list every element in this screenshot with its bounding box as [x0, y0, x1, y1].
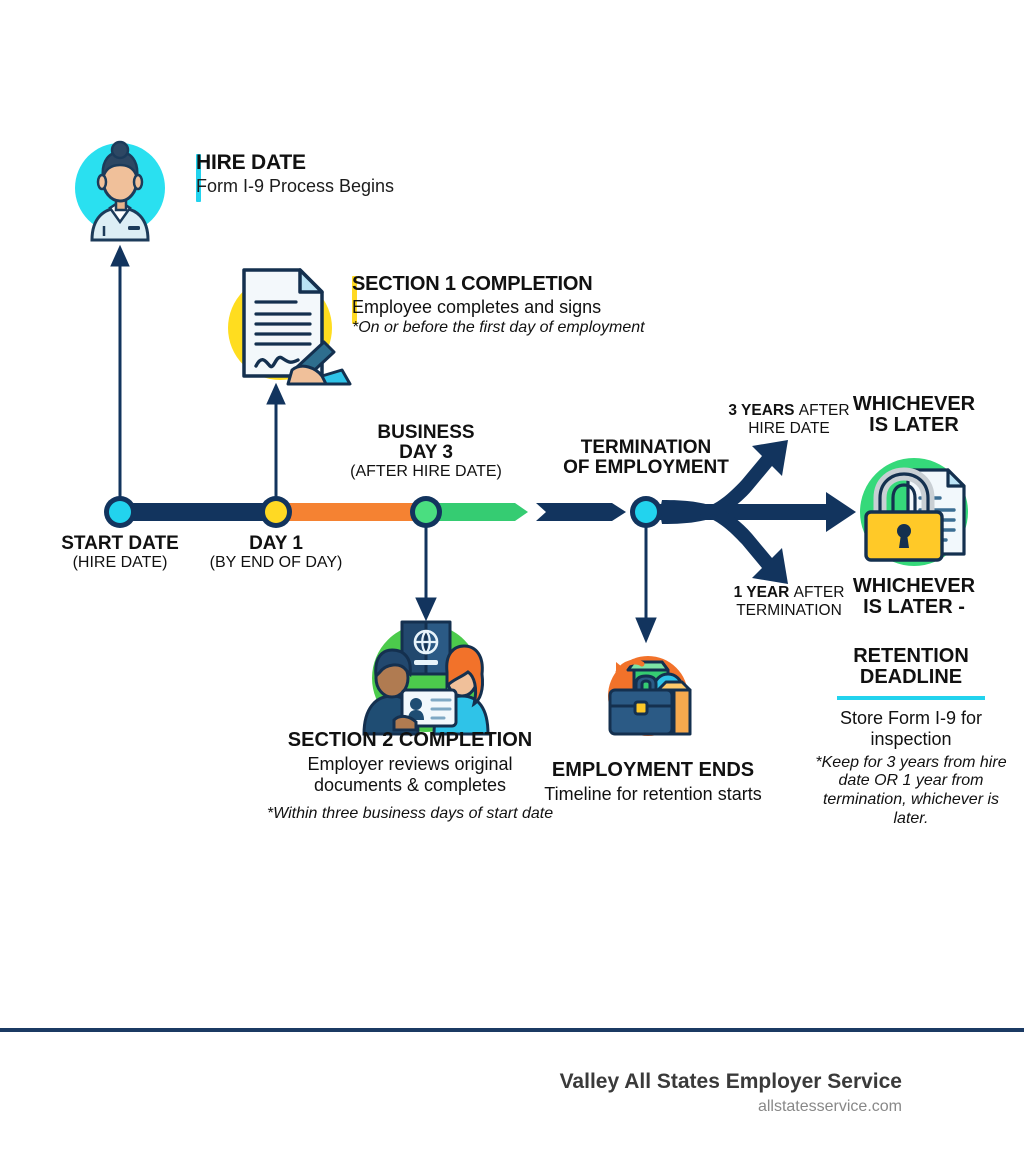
employment-ends-subtitle: Timeline for retention starts — [528, 784, 778, 805]
timeline-segment-navy — [112, 503, 282, 521]
section2-caption-subtitle: Employer reviews original documents & co… — [262, 754, 558, 795]
whichever-bottom-line1: WHICHEVER — [828, 576, 1000, 597]
retention-subtitle: Store Form I-9 for inspection — [812, 708, 1010, 750]
termination-line1: TERMINATION — [536, 438, 756, 458]
three-years-strong: 3 YEARS — [728, 402, 794, 419]
connector-day1-to-section1 — [267, 384, 285, 510]
node-label-start-date: START DATE (HIRE DATE) — [30, 534, 210, 571]
briefcase-boxes-icon — [596, 644, 700, 748]
connector-termination-to-employment-ends — [636, 512, 656, 642]
node-label-day-1: DAY 1 (BY END OF DAY) — [186, 534, 366, 571]
business-day-3-sub: (AFTER HIRE DATE) — [336, 463, 516, 481]
retention-title-line1: RETENTION — [812, 646, 1010, 667]
footer-url[interactable]: allstatesservice.com — [560, 1098, 902, 1116]
start-date-title: START DATE — [30, 534, 210, 554]
one-year-strong: 1 YEAR — [734, 584, 790, 601]
employment-ends-caption: EMPLOYMENT ENDS Timeline for retention s… — [528, 760, 778, 805]
whichever-top-line1: WHICHEVER — [828, 394, 1000, 415]
connector-day3-to-section2 — [416, 512, 436, 620]
employment-ends-title: EMPLOYMENT ENDS — [528, 760, 778, 781]
timeline-node-start — [104, 496, 136, 528]
infographic-canvas: HIRE DATE Form I-9 Process Begins SECTIO… — [0, 0, 1024, 1154]
footer-company-name: Valley All States Employer Service — [560, 1070, 902, 1094]
retention-title-line2: DEADLINE — [812, 667, 1010, 688]
section2-caption-note: *Within three business days of start dat… — [262, 805, 558, 823]
employer-document-review-icon — [336, 616, 516, 734]
start-date-subtitle: (HIRE DATE) — [30, 554, 210, 571]
timeline-node-termination — [630, 496, 662, 528]
lock-document-icon — [852, 456, 976, 568]
timeline-segment-orange — [276, 503, 432, 521]
whichever-is-later-bottom: WHICHEVER IS LATER - — [828, 576, 1000, 618]
footer: Valley All States Employer Service allst… — [0, 1028, 1024, 1154]
whichever-bottom-line2: IS LATER - — [828, 597, 1000, 618]
whichever-is-later-top: WHICHEVER IS LATER — [828, 394, 1000, 436]
section2-caption: SECTION 2 COMPLETION Employer reviews or… — [262, 730, 558, 823]
termination-line2: OF EMPLOYMENT — [536, 458, 756, 478]
day-1-title: DAY 1 — [186, 534, 366, 554]
retention-divider — [837, 696, 985, 700]
business-day-3-line2: DAY 3 — [336, 443, 516, 463]
above-label-termination: TERMINATION OF EMPLOYMENT — [536, 438, 756, 478]
above-label-business-day-3: BUSINESS DAY 3 (AFTER HIRE DATE) — [336, 423, 516, 481]
timeline-node-day1 — [260, 496, 292, 528]
section2-caption-title: SECTION 2 COMPLETION — [262, 730, 558, 751]
whichever-top-line2: IS LATER — [828, 415, 1000, 436]
retention-note: *Keep for 3 years from hire date OR 1 ye… — [812, 754, 1010, 829]
footer-content: Valley All States Employer Service allst… — [560, 1070, 902, 1116]
day-1-subtitle: (BY END OF DAY) — [186, 554, 366, 571]
timeline-node-day3 — [410, 496, 442, 528]
timeline-arrow-to-termination — [536, 503, 626, 521]
connector-start-to-hire — [111, 246, 129, 510]
retention-deadline-block: RETENTION DEADLINE Store Form I-9 for in… — [812, 646, 1010, 829]
business-day-3-line1: BUSINESS — [336, 423, 516, 443]
